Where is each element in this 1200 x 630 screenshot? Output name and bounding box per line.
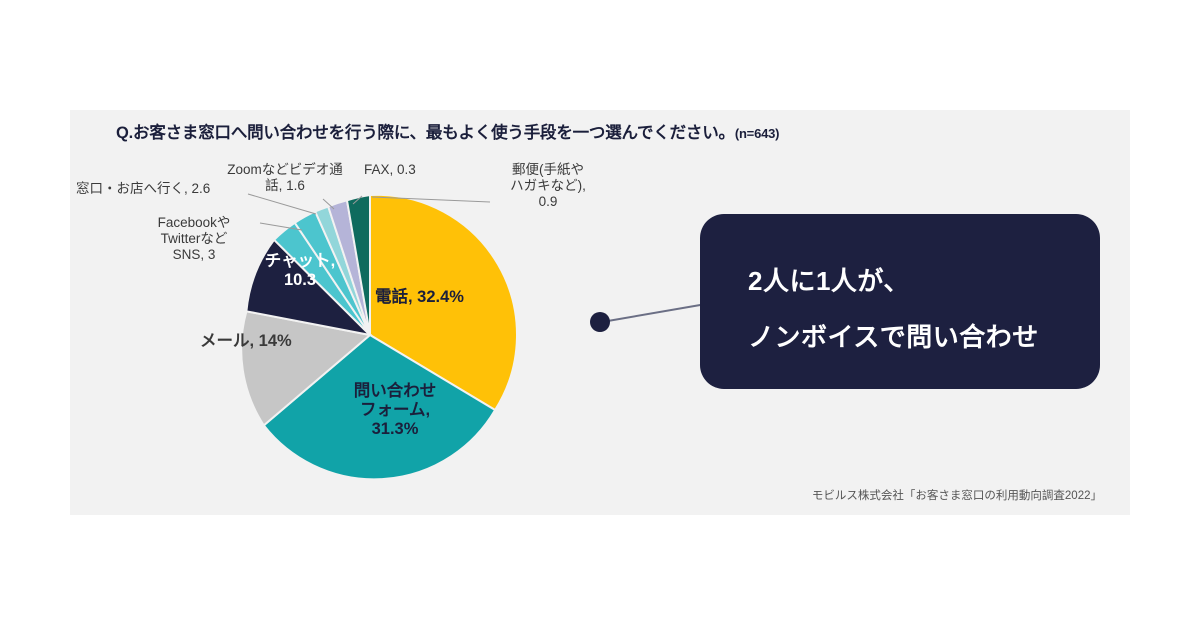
pie-label-sns: Facebookや Twitterなど SNS, 3 (128, 215, 260, 263)
pie-label-denwa: 電話, 32.4% (375, 288, 525, 307)
chart-sample-size: (n=643) (735, 126, 779, 141)
pie-label-mail: メール, 14% (200, 332, 330, 351)
callout-connector (588, 294, 718, 334)
chart-card: Q.お客さま窓口へ問い合わせを行う際に、最もよく使う手段を一つ選んでください。(… (70, 110, 1130, 515)
callout-line-2: ノンボイスで問い合わせ (748, 317, 1039, 354)
callout-line-1: 2人に1人が、 (748, 261, 910, 298)
leader-line-madoguchi (248, 194, 316, 214)
callout-box: 2人に1人が、 ノンボイスで問い合わせ (700, 214, 1100, 389)
pie-label-fax: FAX, 0.3 (364, 162, 456, 178)
pie-label-zoom: Zoomなどビデオ通 話, 1.6 (226, 162, 344, 194)
callout-connector-line (602, 304, 706, 322)
pie-label-form: 問い合わせ フォーム, 31.3% (320, 382, 470, 439)
callout-connector-dot (590, 312, 610, 332)
pie-label-yubin: 郵便(手紙や ハガキなど), 0.9 (494, 162, 602, 210)
pie-label-chat: チャット, 10.3 (245, 252, 355, 290)
source-note: モビルス株式会社「お客さま窓口の利用動向調査2022」 (812, 487, 1102, 503)
